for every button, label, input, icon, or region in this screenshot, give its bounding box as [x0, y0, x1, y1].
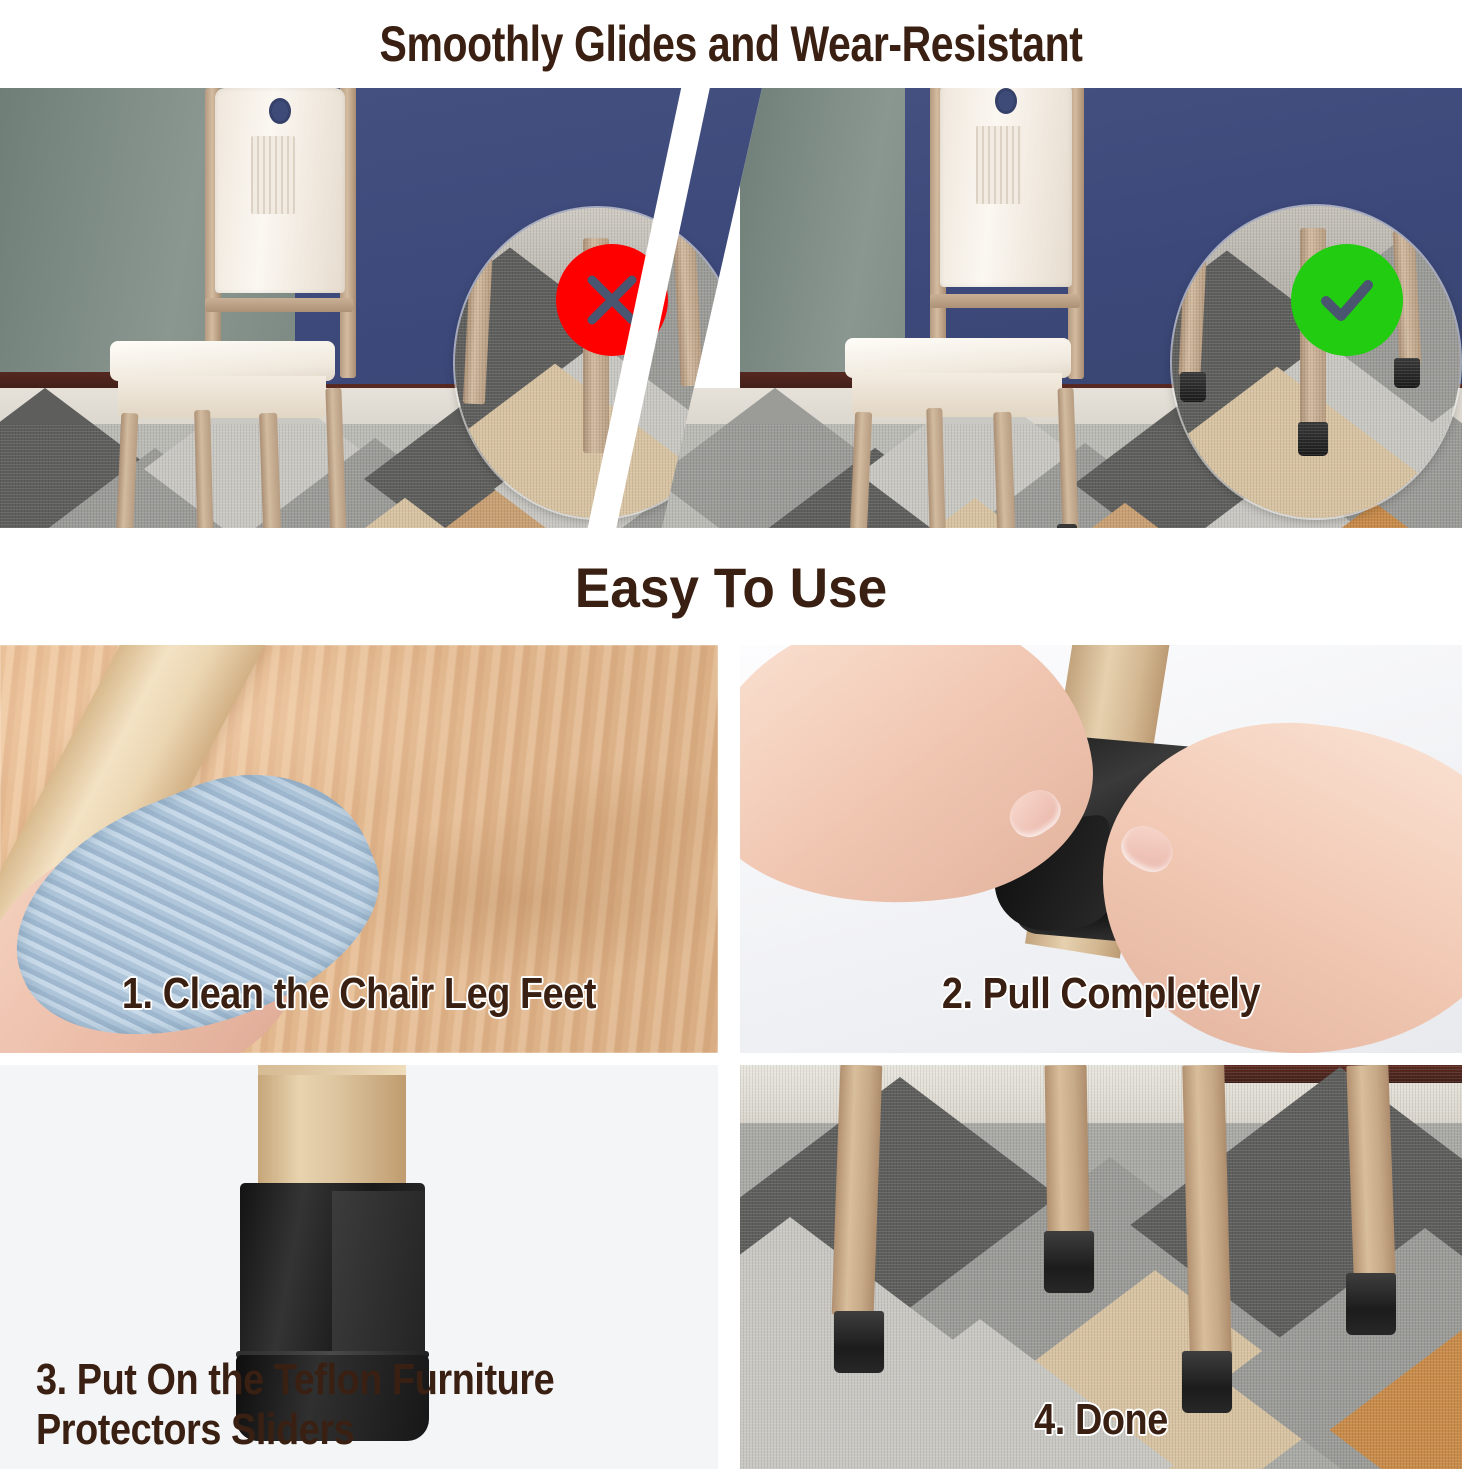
- wooden-chair-leg: [258, 1065, 406, 1199]
- silicone-cap-face: [332, 1191, 425, 1353]
- step-card-3: 3. Put On the Teflon Furniture Protector…: [0, 1065, 718, 1469]
- leg-protector-cap: [1346, 1273, 1396, 1335]
- step-caption-4: 4. Done: [791, 1395, 1412, 1445]
- chair-leg: [832, 1065, 883, 1316]
- wooden-chair-leg-top: [258, 1065, 406, 1075]
- chair-leg: [1346, 1065, 1395, 1278]
- fingernail: [1115, 818, 1181, 879]
- comparison-banner: [0, 88, 1462, 528]
- leg-protector-cap: [1057, 524, 1077, 528]
- chair-leg: [1045, 1065, 1090, 1235]
- step-card-2: 2. Pull Completely: [740, 645, 1462, 1053]
- fingernail: [1002, 781, 1068, 845]
- section-title-easy-to-use: Easy To Use: [37, 540, 1426, 635]
- chair-leg: [1182, 1065, 1232, 1356]
- step-caption-2: 2. Pull Completely: [791, 969, 1412, 1019]
- leg-protector-cap: [834, 1311, 884, 1373]
- step-caption-1: 1. Clean the Chair Leg Feet: [50, 969, 667, 1019]
- step-card-4: 4. Done: [740, 1065, 1462, 1469]
- status-badge-good: [1291, 244, 1403, 356]
- product-infographic: Smoothly Glides and Wear-Resistant: [0, 0, 1462, 1469]
- leg-protector-cap: [1044, 1231, 1094, 1293]
- page-title: Smoothly Glides and Wear-Resistant: [132, 0, 1331, 88]
- green-check-icon: [1313, 266, 1381, 334]
- steps-grid: 1. Clean the Chair Leg Feet 2. Pull Comp…: [0, 645, 1462, 1469]
- step-card-1: 1. Clean the Chair Leg Feet: [0, 645, 718, 1053]
- step-caption-3: 3. Put On the Teflon Furniture Protector…: [36, 1355, 604, 1455]
